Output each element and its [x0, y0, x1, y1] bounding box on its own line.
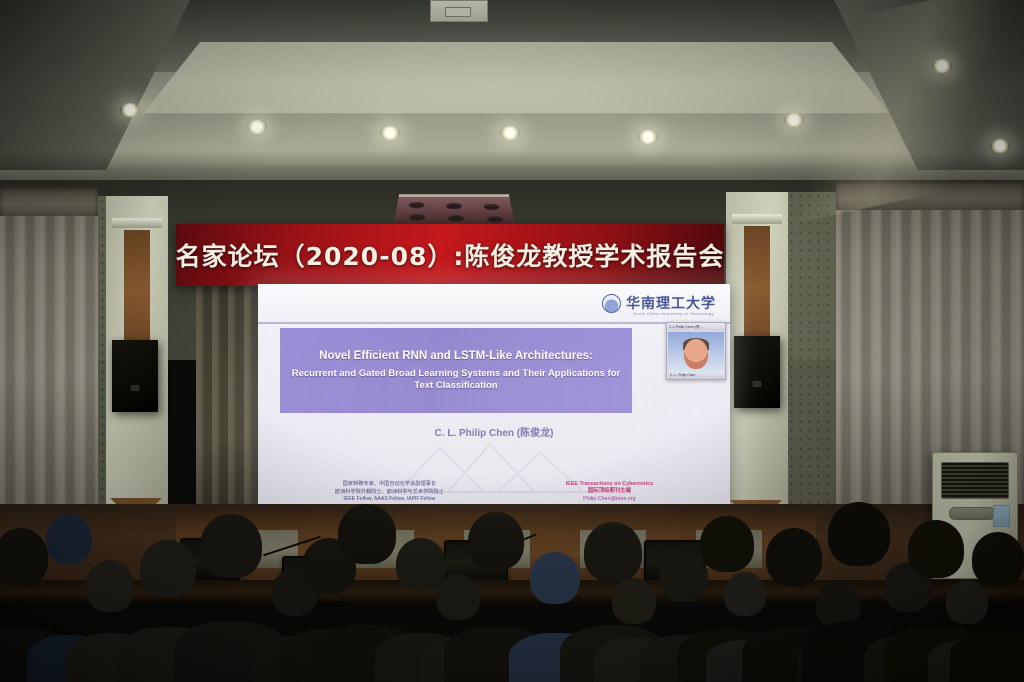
audience-member — [279, 629, 379, 682]
credential-right-2: 国际顶级期刊主编 — [566, 488, 653, 496]
university-emblem-icon — [602, 294, 621, 313]
credentials-right: IEEE Transactions on Cybernetics 国际顶级期刊主… — [566, 481, 653, 504]
event-banner: 名家论坛（2020-08）:陈俊龙教授学术报告会 — [176, 224, 724, 286]
projection-screen: 华南理工大学 South China University of Technol… — [258, 284, 730, 516]
loudspeaker-left — [112, 340, 158, 412]
credential-left-2: 欧洲科学院外籍院士、欧洲科学与艺术学院院士 — [335, 489, 444, 497]
audience-member — [27, 635, 112, 682]
audience-member — [0, 627, 71, 682]
audience-member — [66, 633, 155, 682]
slide-title-block: Novel Efficient RNN and LSTM-Like Archit… — [280, 328, 632, 413]
audience-member — [116, 627, 220, 682]
ceiling — [0, 0, 1024, 190]
credential-left-3: IEEE Fellow, AAAS Fellow, IAPR Fellow — [335, 496, 444, 504]
video-conference-window[interactable]: C.L.Philip Chen (陈... C. L. Philip Chen — [666, 322, 726, 380]
downlight — [247, 120, 267, 134]
slide-footer: 国家特聘专家、中国自动化学会副理事长 欧洲科学院外籍院士、欧洲科学与艺术学院院士… — [258, 481, 730, 504]
stage-inset-panel — [580, 530, 646, 568]
curtain-valance-left — [0, 186, 98, 216]
video-window-feed — [668, 332, 724, 372]
audience-member — [375, 633, 468, 682]
audience-member — [884, 627, 988, 682]
slide-header-bar: 华南理工大学 South China University of Technol… — [258, 284, 730, 324]
column-cap-left — [112, 218, 162, 228]
slide-subtitle: Recurrent and Gated Broad Learning Syste… — [288, 368, 624, 392]
downlight — [932, 59, 952, 73]
stage-inset-panel — [348, 530, 414, 568]
downlight — [380, 126, 400, 140]
downlight — [638, 130, 658, 144]
credential-right-email: Philip.Chen@ieee.org — [566, 496, 653, 504]
audience-member — [677, 629, 777, 682]
ac-energy-label — [993, 505, 1010, 527]
audience-member — [802, 621, 917, 682]
audience-member — [314, 625, 421, 682]
audience-member — [444, 627, 548, 682]
audience-member — [950, 631, 1024, 682]
curtain-left — [0, 186, 98, 530]
downlight — [990, 139, 1010, 153]
video-window-title: C.L.Philip Chen (陈... — [667, 323, 725, 331]
credential-left-1: 国家特聘专家、中国自动化学会副理事长 — [335, 481, 444, 489]
ceiling-vent-icon — [430, 0, 488, 22]
video-window-caption: C. L. Philip Chen — [668, 372, 724, 379]
ac-grille-icon — [941, 462, 1009, 499]
audience-member — [928, 640, 1006, 682]
audience-member — [253, 636, 338, 682]
downlight — [784, 113, 804, 127]
stage-chair — [180, 538, 240, 582]
credentials-left: 国家特聘专家、中国自动化学会副理事长 欧洲科学院外籍院士、欧洲科学与艺术学院院士… — [335, 481, 444, 504]
downlight — [500, 126, 520, 140]
presentation-slide: 华南理工大学 South China University of Technol… — [258, 284, 730, 516]
air-conditioner-unit — [932, 452, 1018, 579]
stage-rail — [0, 580, 1024, 602]
curtain-valance-right — [836, 180, 1024, 210]
audience-member — [864, 635, 953, 682]
audience-member — [798, 638, 879, 682]
university-subtitle: South China University of Technology — [633, 311, 714, 316]
audience-member — [509, 633, 602, 682]
audience-member — [174, 621, 289, 682]
audience-member — [594, 638, 675, 682]
column-cap-right — [732, 214, 782, 224]
ac-brand-badge — [949, 507, 995, 520]
audience-member — [742, 627, 846, 682]
speaker-face — [684, 339, 708, 369]
stage-chair — [644, 540, 706, 584]
university-name: 华南理工大学 — [626, 293, 716, 313]
audience-member — [560, 625, 667, 682]
audience-member — [706, 640, 784, 682]
lecture-hall-photo: 名家论坛（2020-08）:陈俊龙教授学术报告会 华南理工大学 South Ch… — [0, 0, 1024, 682]
audience-member — [640, 635, 729, 682]
slide-title: Novel Efficient RNN and LSTM-Like Archit… — [319, 349, 593, 363]
event-banner-text: 名家论坛（2020-08）:陈俊龙教授学术报告会 — [176, 237, 725, 273]
audience-member — [418, 638, 499, 682]
downlight — [120, 103, 140, 117]
loudspeaker-right — [734, 336, 780, 408]
